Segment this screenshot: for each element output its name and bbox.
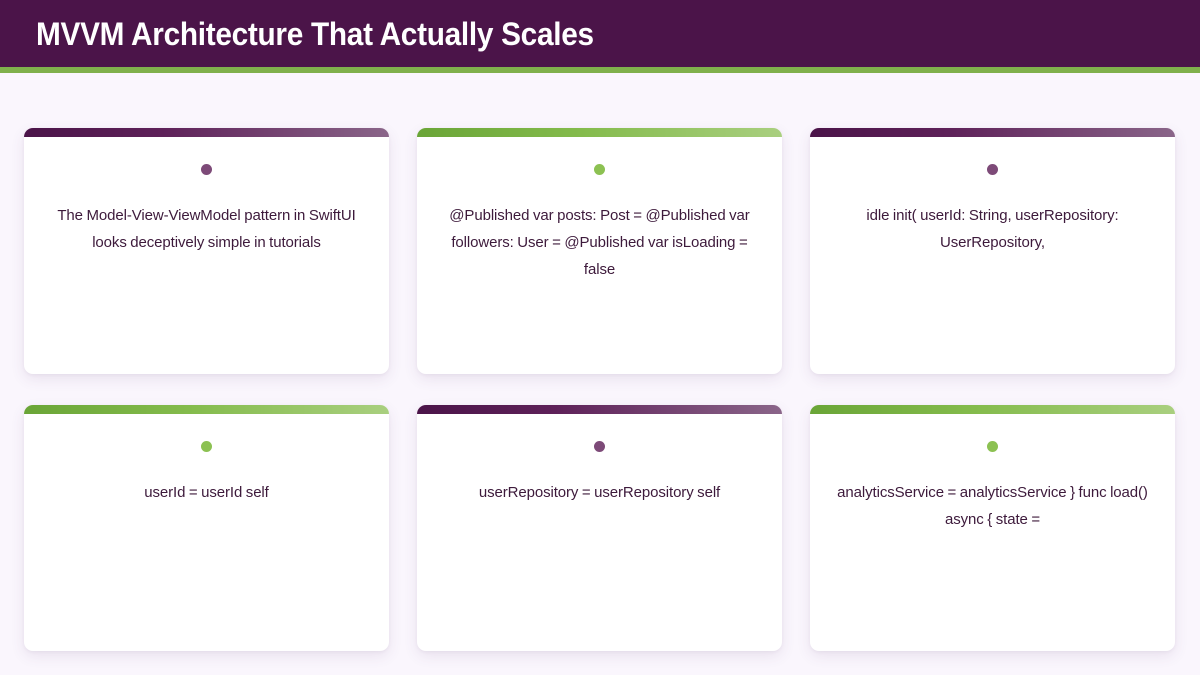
card-text: The Model-View-ViewModel pattern in Swif… — [24, 202, 389, 256]
card-text: idle init( userId: String, userRepositor… — [810, 202, 1175, 256]
status-dot-purple — [201, 164, 212, 175]
status-dot-green — [201, 441, 212, 452]
header-bar: MVVM Architecture That Actually Scales — [0, 0, 1200, 67]
card-accent-bar — [24, 405, 389, 414]
card-item[interactable]: idle init( userId: String, userRepositor… — [810, 128, 1175, 374]
card-item[interactable]: The Model-View-ViewModel pattern in Swif… — [24, 128, 389, 374]
card-grid: The Model-View-ViewModel pattern in Swif… — [24, 128, 1176, 651]
card-accent-bar — [417, 128, 782, 137]
card-text: analyticsService = analyticsService } fu… — [810, 479, 1175, 533]
card-text: userId = userId self — [24, 479, 389, 506]
card-item[interactable]: @Published var posts: Post = @Published … — [417, 128, 782, 374]
slide-root: MVVM Architecture That Actually Scales T… — [0, 0, 1200, 675]
card-accent-bar — [24, 128, 389, 137]
status-dot-purple — [594, 441, 605, 452]
page-title: MVVM Architecture That Actually Scales — [36, 18, 594, 50]
card-item[interactable]: userRepository = userRepository self — [417, 405, 782, 651]
card-accent-bar — [417, 405, 782, 414]
card-item[interactable]: userId = userId self — [24, 405, 389, 651]
header-accent-rule — [0, 67, 1200, 73]
card-text: @Published var posts: Post = @Published … — [417, 202, 782, 283]
card-text: userRepository = userRepository self — [417, 479, 782, 506]
card-accent-bar — [810, 405, 1175, 414]
card-accent-bar — [810, 128, 1175, 137]
status-dot-green — [987, 441, 998, 452]
card-item[interactable]: analyticsService = analyticsService } fu… — [810, 405, 1175, 651]
status-dot-purple — [987, 164, 998, 175]
status-dot-green — [594, 164, 605, 175]
